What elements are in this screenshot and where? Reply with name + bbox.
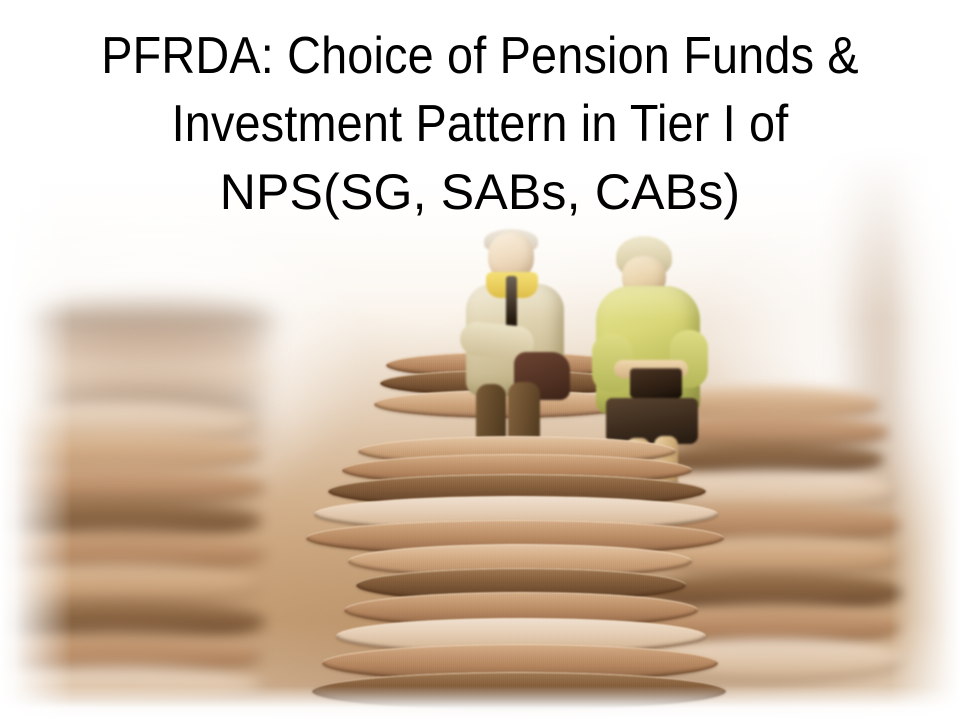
title-line-3: NPS(SG, SABs, CABs) — [0, 158, 960, 226]
presentation-slide: PFRDA: Choice of Pension Funds & Investm… — [0, 0, 960, 720]
title-line-1: PFRDA: Choice of Pension Funds & — [48, 22, 912, 90]
title-line-2: Investment Pattern in Tier I of — [48, 90, 912, 158]
coin-stack-left — [0, 402, 266, 720]
slide-title: PFRDA: Choice of Pension Funds & Investm… — [0, 22, 960, 226]
coin-stack-center — [300, 352, 730, 720]
man-tie — [506, 276, 517, 332]
